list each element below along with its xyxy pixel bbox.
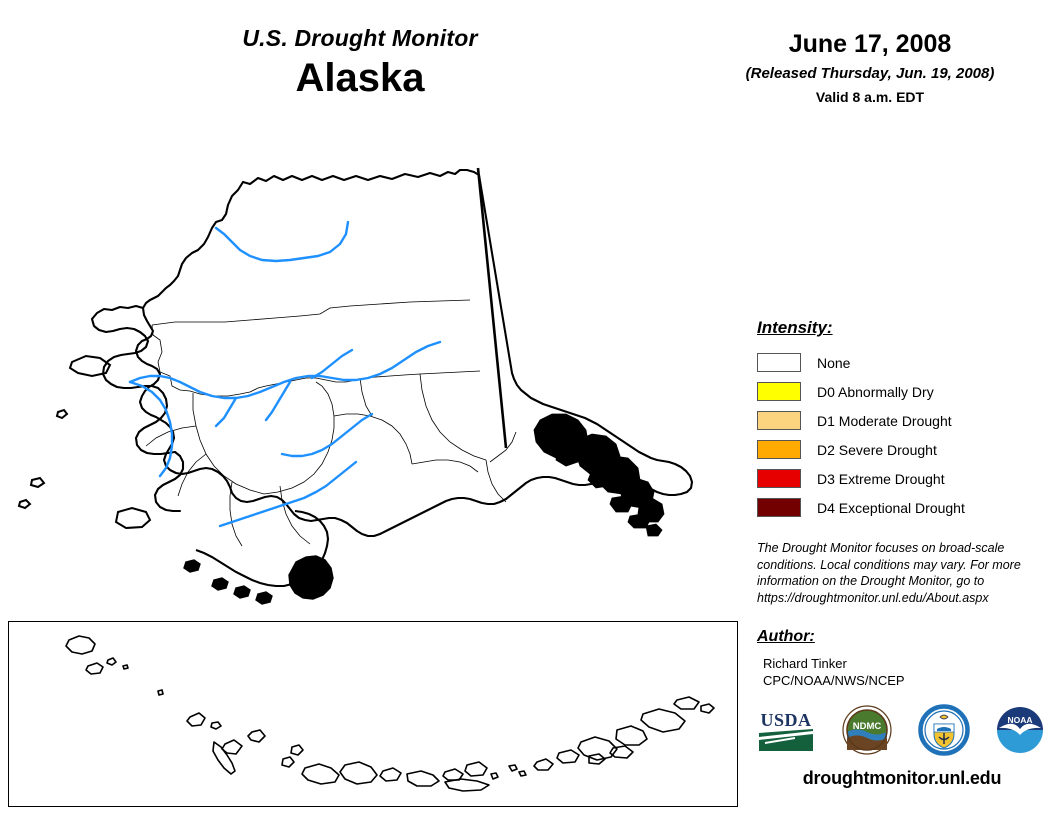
legend-item-none: None — [757, 348, 1047, 377]
valid-time: Valid 8 a.m. EDT — [700, 89, 1040, 106]
author-details: Richard Tinker CPC/NOAA/NWS/NCEP — [763, 655, 1047, 690]
legend-swatch-d2 — [757, 440, 801, 459]
island-tip-1 — [674, 697, 699, 709]
legend-swatch-d3 — [757, 469, 801, 488]
island-dot-3 — [491, 773, 498, 779]
map-date: June 17, 2008 — [700, 30, 1040, 59]
agattu-island — [86, 663, 103, 674]
legend-swatch-none — [757, 353, 801, 372]
release-date: (Released Thursday, Jun. 19, 2008) — [700, 65, 1040, 83]
legend-swatch-d4 — [757, 498, 801, 517]
delarof-islands — [291, 745, 303, 755]
unalaska-approach — [534, 759, 553, 770]
island-small-1 — [107, 658, 116, 665]
usda-logo: USDA — [755, 707, 817, 758]
umnak-island-west — [445, 779, 489, 791]
yunaska-island — [465, 762, 487, 776]
legend-item-d2: D2 Severe Drought — [757, 435, 1047, 464]
andreanof-2 — [302, 764, 339, 784]
legend-label-d0: D0 Abnormally Dry — [817, 384, 934, 400]
alaska-map — [0, 110, 745, 615]
legend-label-d1: D1 Moderate Drought — [817, 413, 952, 429]
kodiak-island — [289, 556, 333, 599]
author-affiliation: CPC/NOAA/NWS/NCEP — [763, 672, 1047, 689]
little-kiska — [211, 722, 221, 729]
legend-label-d4: D4 Exceptional Drought — [817, 500, 965, 516]
svg-text:NDMC: NDMC — [853, 721, 882, 732]
legend-item-d0: D0 Abnormally Dry — [757, 377, 1047, 406]
svg-text:NOAA: NOAA — [1007, 715, 1032, 725]
small-island-1 — [57, 410, 67, 418]
author-block: Author: Richard Tinker CPC/NOAA/NWS/NCEP — [757, 628, 1047, 690]
footer-url: droughtmonitor.unl.edu — [757, 768, 1047, 789]
legend-title: Intensity: — [757, 318, 1047, 338]
author-title: Author: — [757, 628, 1047, 646]
amlia-island — [407, 771, 439, 786]
legend-swatch-d1 — [757, 411, 801, 430]
legend: Intensity: None D0 Abnormally Dry D1 Mod… — [757, 318, 1047, 522]
attu-island — [66, 636, 95, 654]
disclaimer-text: The Drought Monitor focuses on broad-sca… — [757, 540, 1032, 607]
page-title: U.S. Drought Monitor — [150, 26, 570, 51]
logo-row: USDA NDMC — [755, 703, 1045, 761]
andreanof-1 — [282, 757, 294, 767]
atka-island — [340, 762, 377, 784]
island-dot-2 — [158, 690, 163, 695]
umnak-island — [557, 750, 579, 763]
region-title: Alaska — [150, 55, 570, 101]
nunivak-island — [116, 508, 150, 528]
seguam-island — [380, 768, 401, 781]
pribilof-islands-2 — [19, 500, 30, 508]
island-tip-2 — [701, 704, 714, 713]
doc-seal-logo — [918, 704, 970, 761]
legend-label-d3: D3 Extreme Drought — [817, 471, 945, 487]
legend-label-d2: D2 Severe Drought — [817, 442, 937, 458]
legend-label-none: None — [817, 355, 850, 371]
date-block: June 17, 2008 (Released Thursday, Jun. 1… — [700, 30, 1040, 106]
title-block: U.S. Drought Monitor Alaska — [150, 26, 570, 101]
akutan-island — [616, 726, 647, 745]
island-dot-4 — [509, 765, 517, 771]
legend-item-d4: D4 Exceptional Drought — [757, 493, 1047, 522]
pribilof-islands-1 — [31, 478, 44, 487]
island-dot-1 — [123, 665, 128, 669]
noaa-logo: NOAA — [995, 705, 1045, 760]
unalaska-island — [578, 737, 617, 760]
kiska-island — [187, 713, 205, 726]
island-tip-3 — [610, 746, 633, 758]
svg-text:USDA: USDA — [760, 710, 811, 730]
legend-item-d3: D3 Extreme Drought — [757, 464, 1047, 493]
aleutian-islands — [66, 636, 714, 791]
island-dot-5 — [519, 771, 526, 776]
semisopochnoi — [248, 730, 265, 742]
aleutian-islands-inset — [8, 621, 738, 807]
author-name: Richard Tinker — [763, 655, 1047, 672]
alaska-peninsula-group — [184, 511, 333, 604]
legend-item-d1: D1 Moderate Drought — [757, 406, 1047, 435]
island-small-2 — [443, 769, 463, 780]
unimak-island — [641, 709, 685, 732]
ndmc-logo: NDMC — [842, 705, 892, 760]
legend-swatch-d0 — [757, 382, 801, 401]
